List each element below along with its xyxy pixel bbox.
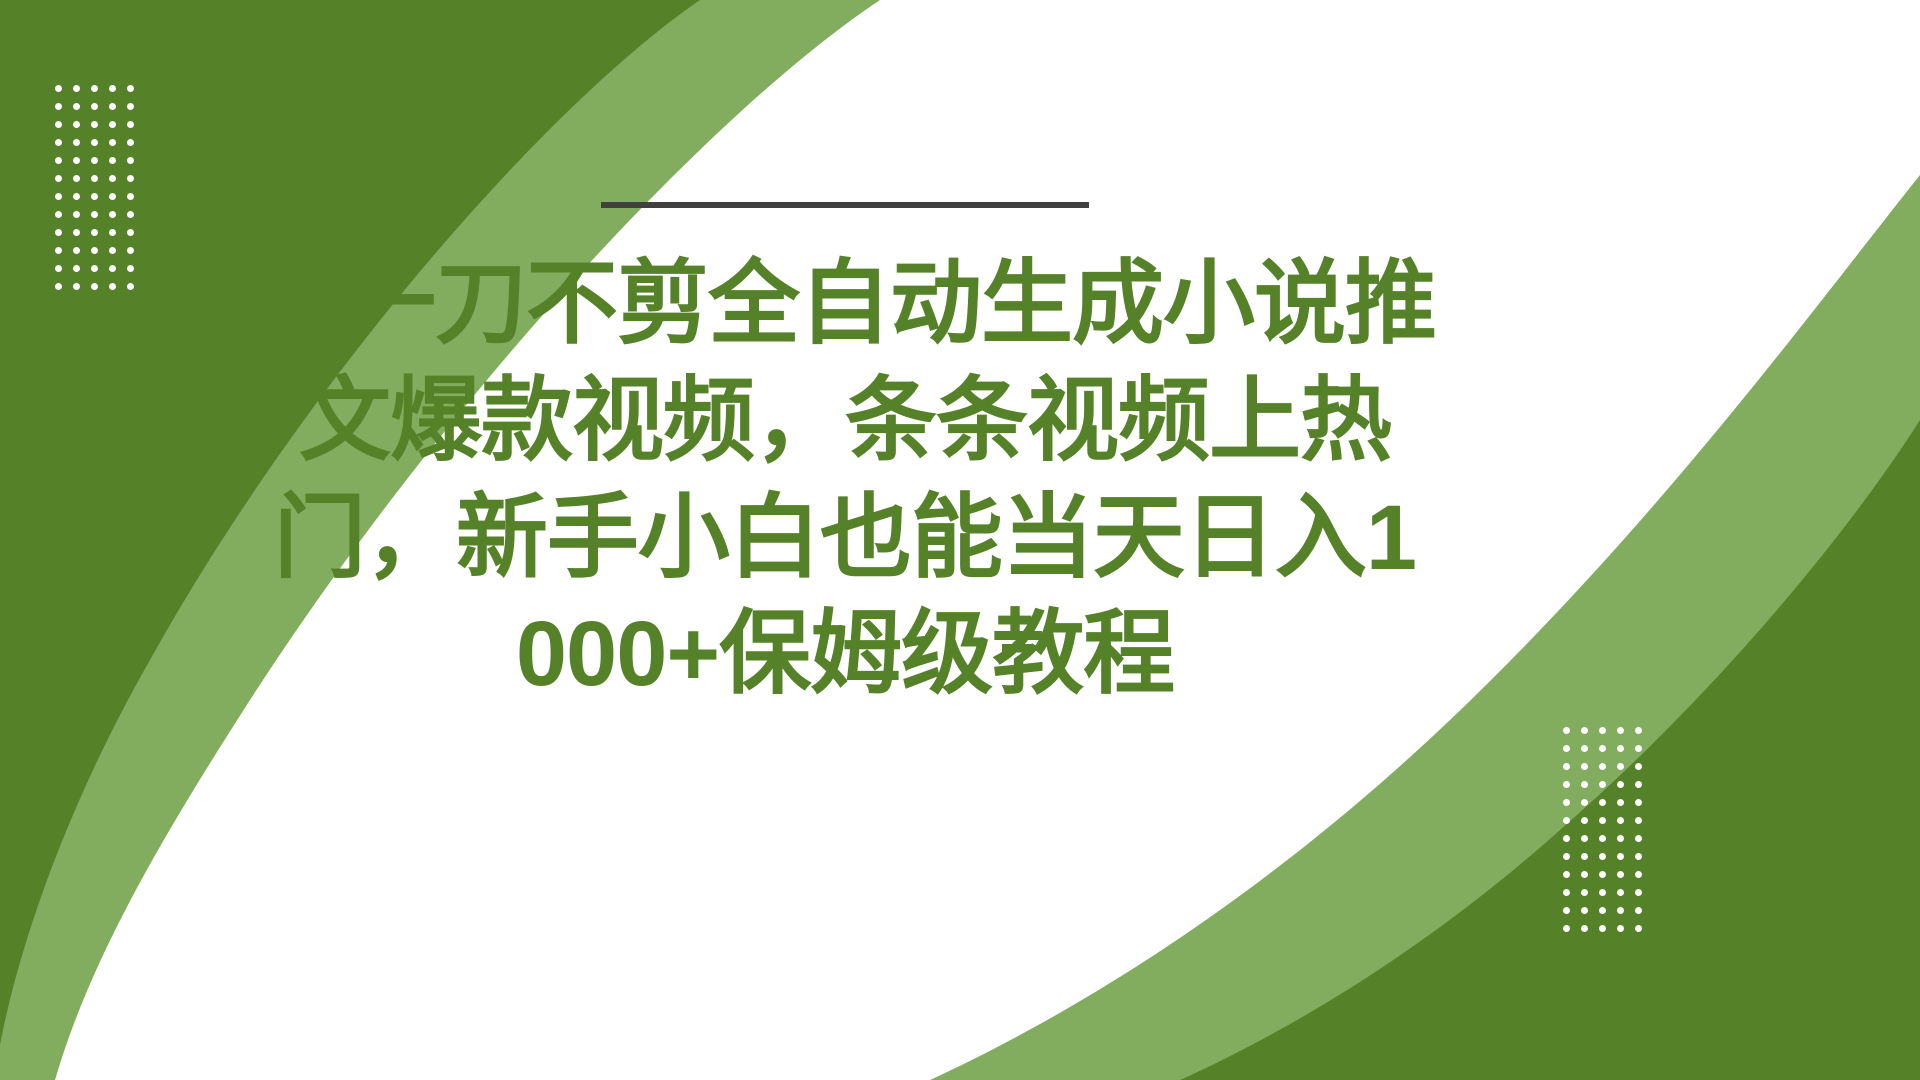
dot [1599,745,1606,752]
dot [55,283,62,290]
dot [1599,799,1606,806]
dot [127,103,134,110]
dot [109,193,116,200]
dot [1563,889,1570,896]
dot [109,121,116,128]
dot [55,211,62,218]
dot [1635,889,1642,896]
dot [1635,817,1642,824]
dot [127,229,134,236]
dot [73,283,80,290]
dot [1581,763,1588,770]
dot [1599,925,1606,932]
dot [91,283,98,290]
dot [55,193,62,200]
dot [127,283,134,290]
dot [1581,835,1588,842]
dot [55,103,62,110]
dot [109,85,116,92]
dot [1599,727,1606,734]
dot [73,193,80,200]
dot [1563,871,1570,878]
dot [1635,763,1642,770]
dot [1617,889,1624,896]
dot [55,85,62,92]
dot [73,103,80,110]
dot [109,265,116,272]
page-title: AI一刀不剪全自动生成小说推文爆款视频，条条视频上热门，新手小白也能当天日入10… [250,246,1440,713]
dot [73,85,80,92]
content-block: AI一刀不剪全自动生成小说推文爆款视频，条条视频上热门，新手小白也能当天日入10… [250,180,1440,713]
dot [1599,781,1606,788]
dot [1635,799,1642,806]
dot [109,139,116,146]
dot [55,139,62,146]
dot [1563,925,1570,932]
dot [109,229,116,236]
dot [73,265,80,272]
dot [73,175,80,182]
dot [1635,727,1642,734]
dot-grid-top-left [55,85,145,301]
dot [1617,853,1624,860]
dot [1617,781,1624,788]
dot [1563,745,1570,752]
dot [1617,727,1624,734]
dot [109,211,116,218]
dot [1617,835,1624,842]
dot [1617,871,1624,878]
poster-canvas: AI一刀不剪全自动生成小说推文爆款视频，条条视频上热门，新手小白也能当天日入10… [0,0,1920,1080]
dot [55,247,62,254]
dot [73,157,80,164]
dot [55,265,62,272]
dot [127,121,134,128]
dot [1617,799,1624,806]
dot [1563,799,1570,806]
dot [1635,781,1642,788]
dot [1599,763,1606,770]
dot [1581,817,1588,824]
dot [109,157,116,164]
dot [91,175,98,182]
dot [55,121,62,128]
dot [1599,835,1606,842]
dot [1599,871,1606,878]
dot [109,247,116,254]
dot [109,175,116,182]
dot [91,139,98,146]
dot [1617,763,1624,770]
dot [55,229,62,236]
dot [1635,853,1642,860]
dot [91,103,98,110]
dot [127,157,134,164]
dot [1581,871,1588,878]
dot [1599,889,1606,896]
dot [1563,853,1570,860]
dot-grid-bottom-right [1563,727,1653,943]
dot [1617,745,1624,752]
dot [1617,907,1624,914]
dot [1563,763,1570,770]
dot [91,211,98,218]
dot [1635,925,1642,932]
dot [1635,745,1642,752]
dot [1581,727,1588,734]
dot [127,139,134,146]
dot [91,157,98,164]
dot [1617,925,1624,932]
dot [127,247,134,254]
dot [1581,745,1588,752]
dot [55,175,62,182]
dot [91,193,98,200]
dot [127,175,134,182]
dot [73,211,80,218]
dot [127,85,134,92]
dot [91,229,98,236]
dot [1563,781,1570,788]
dot [1635,907,1642,914]
title-divider-rule [601,202,1089,208]
dot [73,121,80,128]
dot [1563,727,1570,734]
dot [1581,853,1588,860]
dot [91,247,98,254]
dot [1581,799,1588,806]
dot [1599,853,1606,860]
dot [109,283,116,290]
dot [1635,871,1642,878]
dot [91,85,98,92]
dot [1581,781,1588,788]
dot [1617,817,1624,824]
dot [1635,835,1642,842]
dot [127,193,134,200]
dot [91,121,98,128]
dot [1581,925,1588,932]
dot [1563,817,1570,824]
dot [1563,907,1570,914]
dot [1563,835,1570,842]
dot [1581,889,1588,896]
dot [55,157,62,164]
dot [73,247,80,254]
dot [73,229,80,236]
dot [127,211,134,218]
dot [1599,907,1606,914]
dot [109,103,116,110]
dot [127,265,134,272]
dot [1581,907,1588,914]
dot [91,265,98,272]
dot [73,139,80,146]
dot [1599,817,1606,824]
